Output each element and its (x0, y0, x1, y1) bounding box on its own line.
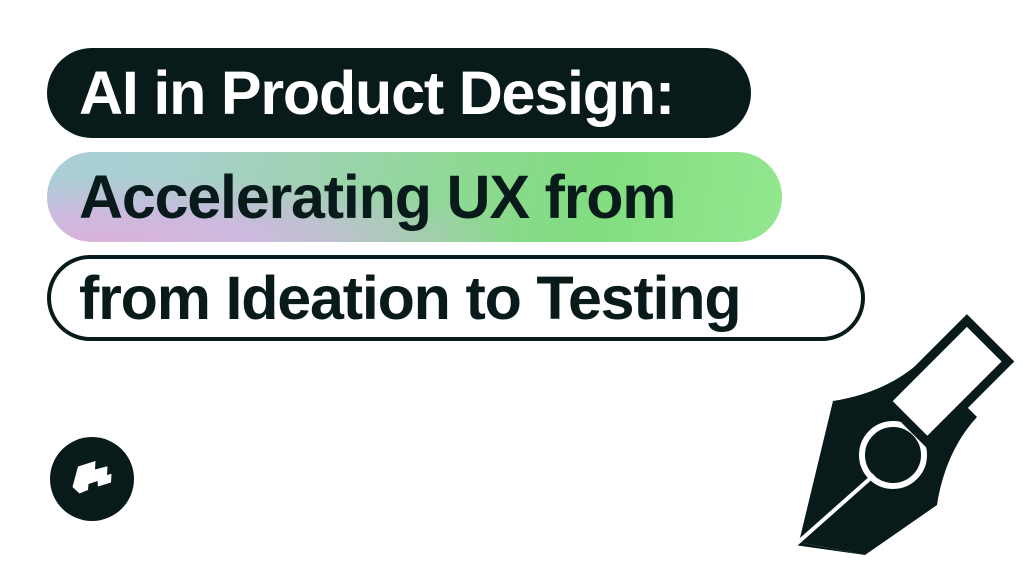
title-line-2-text: Accelerating UX from (79, 167, 675, 228)
title-pill-line-1: AI in Product Design: (47, 48, 751, 138)
pen-handle (886, 320, 1008, 442)
brand-mark-icon (66, 457, 118, 501)
pen-nib-illustration (770, 312, 1024, 576)
title-pill-line-3: from Ideation to Testing (47, 255, 865, 341)
title-card-canvas: AI in Product Design: Accelerating UX fr… (0, 0, 1024, 576)
logo-badge (50, 437, 134, 521)
title-line-1-text: AI in Product Design: (79, 63, 674, 124)
title-line-3-text: from Ideation to Testing (79, 268, 740, 329)
title-pill-line-2: Accelerating UX from (47, 152, 782, 242)
